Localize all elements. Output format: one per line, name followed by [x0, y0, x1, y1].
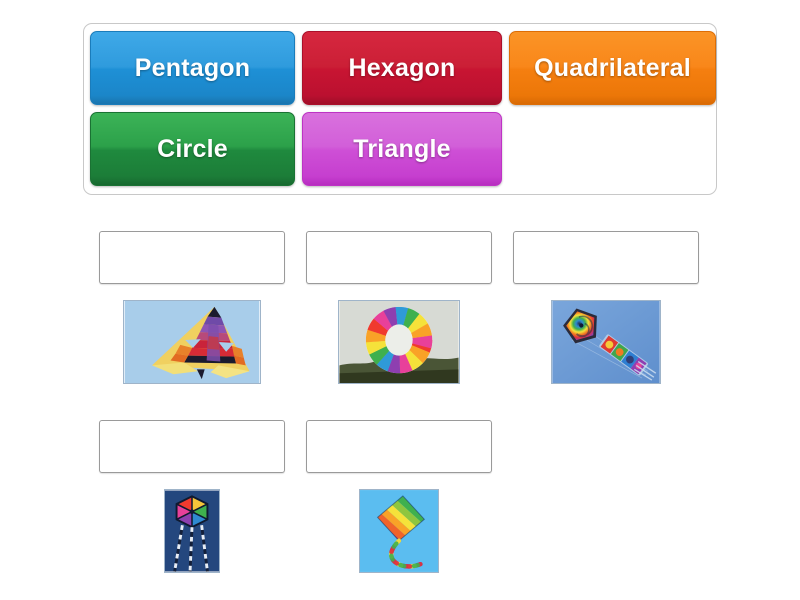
image-slot-1 [99, 300, 285, 384]
activity-stage: Pentagon Hexagon Quadrilateral Circle Tr… [0, 0, 800, 600]
image-slot-5 [306, 489, 492, 573]
word-tile-circle[interactable]: Circle [90, 112, 295, 186]
answer-cell-4 [99, 420, 285, 573]
word-tile-label: Hexagon [341, 54, 464, 83]
quadrilateral-kite-image [359, 489, 439, 573]
word-bank: Pentagon Hexagon Quadrilateral Circle Tr… [83, 23, 717, 195]
drop-zone-2[interactable] [306, 231, 492, 284]
drop-zone-1[interactable] [99, 231, 285, 284]
triangle-kite-image [123, 300, 261, 384]
image-slot-2 [306, 300, 492, 384]
circle-kite-image [338, 300, 460, 384]
word-bank-row-1: Pentagon Hexagon Quadrilateral [90, 31, 716, 105]
answer-cell-2 [306, 231, 492, 384]
hexagon-kite-image [164, 489, 220, 573]
drop-zone-4[interactable] [99, 420, 285, 473]
image-slot-4 [99, 489, 285, 573]
image-slot-3 [513, 300, 699, 384]
answer-cell-1 [99, 231, 285, 384]
word-tile-label: Circle [149, 135, 236, 164]
word-tile-triangle[interactable]: Triangle [302, 112, 502, 186]
answer-cell-3 [513, 231, 699, 384]
word-tile-label: Triangle [345, 135, 458, 164]
word-tile-pentagon[interactable]: Pentagon [90, 31, 295, 105]
answer-cell-5 [306, 420, 492, 573]
drop-zone-5[interactable] [306, 420, 492, 473]
word-tile-label: Pentagon [127, 54, 259, 83]
drop-zone-3[interactable] [513, 231, 699, 284]
word-bank-row-2: Circle Triangle [90, 112, 502, 186]
word-tile-quadrilateral[interactable]: Quadrilateral [509, 31, 716, 105]
pentagon-kite-image [551, 300, 661, 384]
word-tile-hexagon[interactable]: Hexagon [302, 31, 502, 105]
word-tile-label: Quadrilateral [526, 54, 699, 83]
